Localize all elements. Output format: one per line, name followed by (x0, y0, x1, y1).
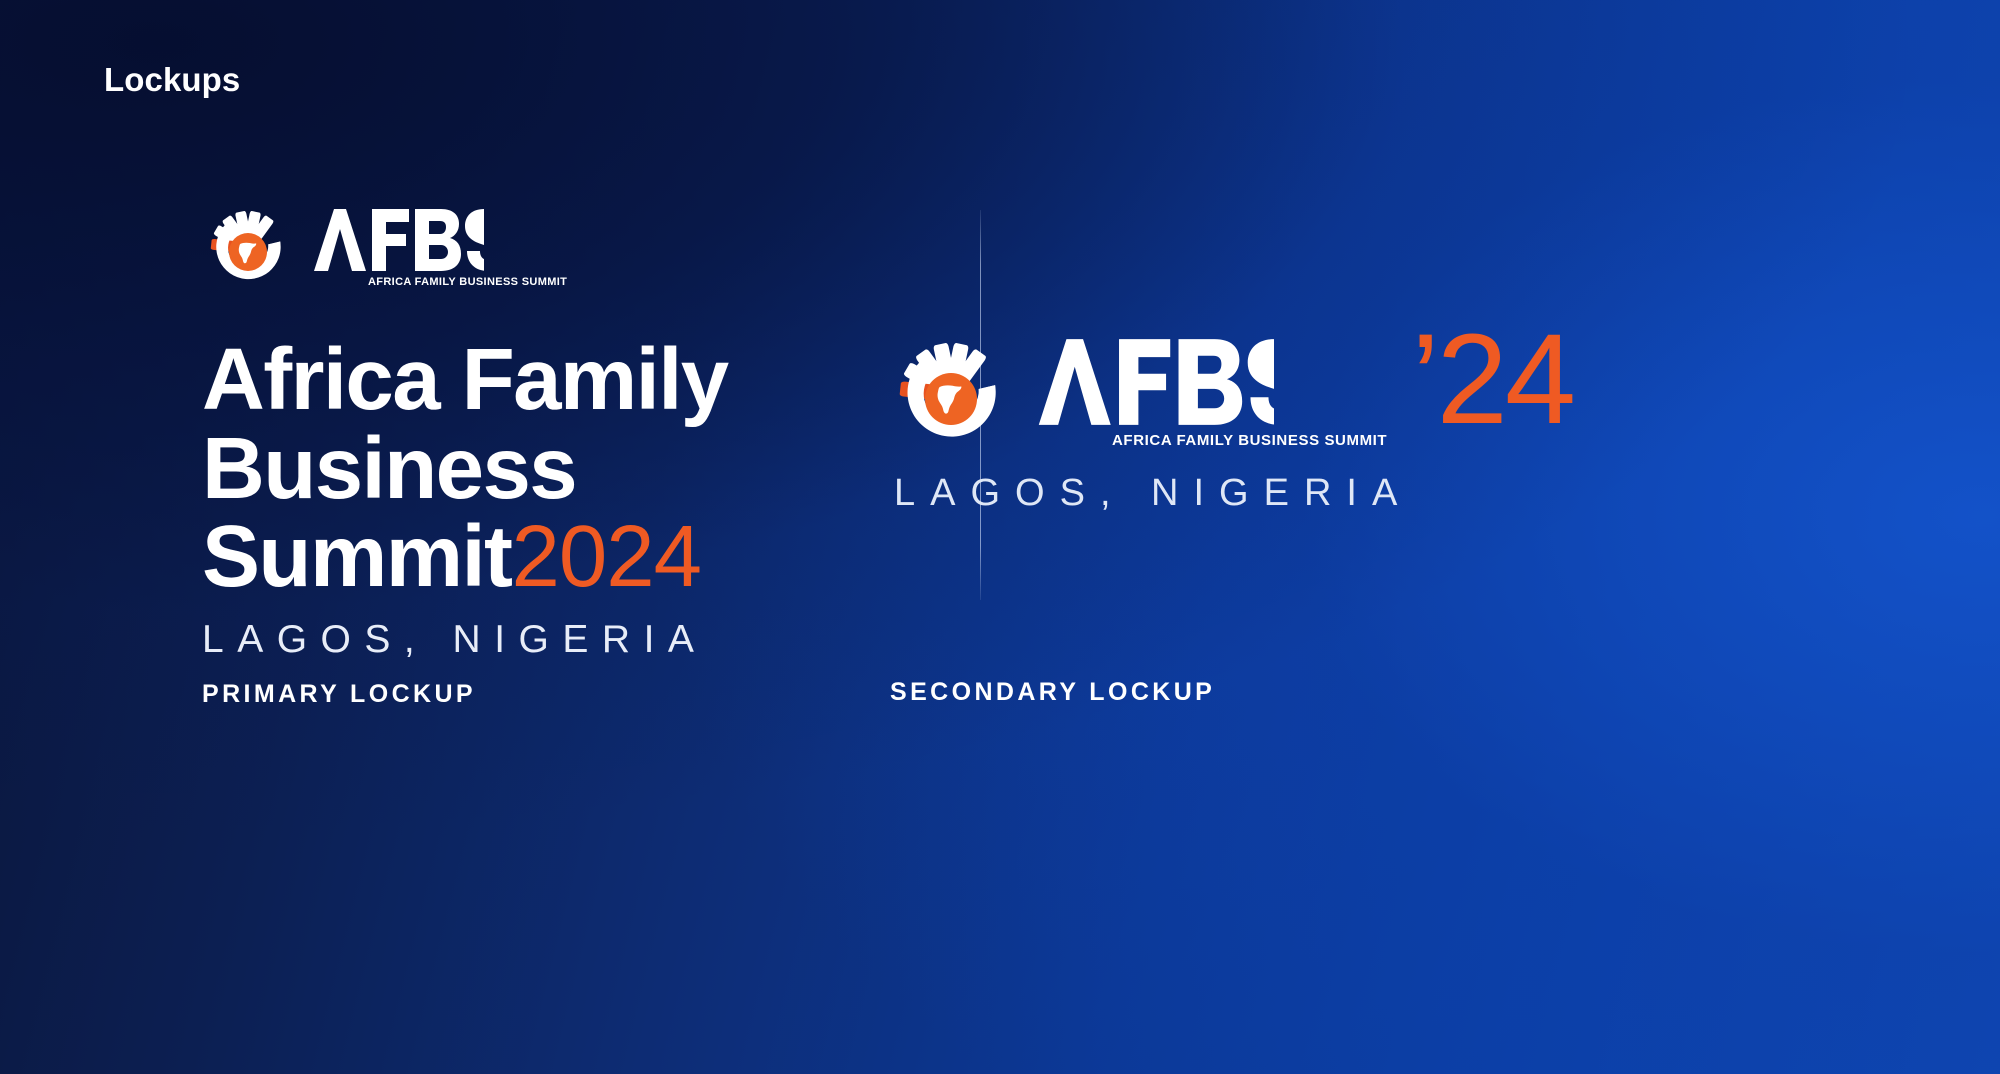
secondary-logo-row: AFRICA FAMILY BUSINESS SUMMIT ’24 (888, 330, 1648, 458)
primary-wordmark-block: AFRICA FAMILY BUSINESS SUMMIT (312, 209, 567, 288)
afbs-wordmark (312, 209, 567, 271)
afbs-letters-icon (1036, 339, 1274, 425)
headline-summit: Summit (202, 508, 511, 605)
afbs-wordmark (1036, 339, 1387, 425)
afbs-letters-icon (312, 209, 484, 271)
headline-line-2: Business (202, 425, 902, 514)
headline-line-1: Africa Family (202, 336, 902, 425)
afbs-sunburst-africa-logo (888, 331, 1014, 457)
africa-globe-icon (925, 373, 977, 425)
primary-logo-row: AFRICA FAMILY BUSINESS SUMMIT (202, 200, 902, 296)
page-title: Lockups (104, 61, 240, 99)
headline-year: 2024 (511, 508, 701, 605)
secondary-wordmark-block: AFRICA FAMILY BUSINESS SUMMIT (1036, 339, 1387, 449)
headline-line-3: Summit2024 (202, 513, 902, 602)
secondary-locality: LAGOS, NIGERIA (894, 472, 1648, 515)
slide-canvas: Lockups (0, 0, 2000, 1074)
africa-silhouette-icon (234, 238, 263, 267)
secondary-lockup: AFRICA FAMILY BUSINESS SUMMIT ’24 LAGOS,… (888, 330, 1648, 515)
afbs-tagline: AFRICA FAMILY BUSINESS SUMMIT (1112, 432, 1387, 449)
primary-locality: LAGOS, NIGERIA (202, 618, 902, 662)
primary-lockup: AFRICA FAMILY BUSINESS SUMMIT Africa Fam… (202, 200, 902, 662)
africa-globe-icon (229, 233, 267, 271)
primary-lockup-caption: PRIMARY LOCKUP (202, 680, 476, 709)
afbs-sunburst-africa-logo (202, 202, 294, 294)
africa-silhouette-icon (931, 379, 971, 419)
secondary-lockup-caption: SECONDARY LOCKUP (890, 678, 1215, 707)
primary-headline: Africa Family Business Summit2024 (202, 336, 902, 602)
afbs-tagline: AFRICA FAMILY BUSINESS SUMMIT (368, 276, 567, 288)
secondary-year: ’24 (1411, 316, 1573, 444)
